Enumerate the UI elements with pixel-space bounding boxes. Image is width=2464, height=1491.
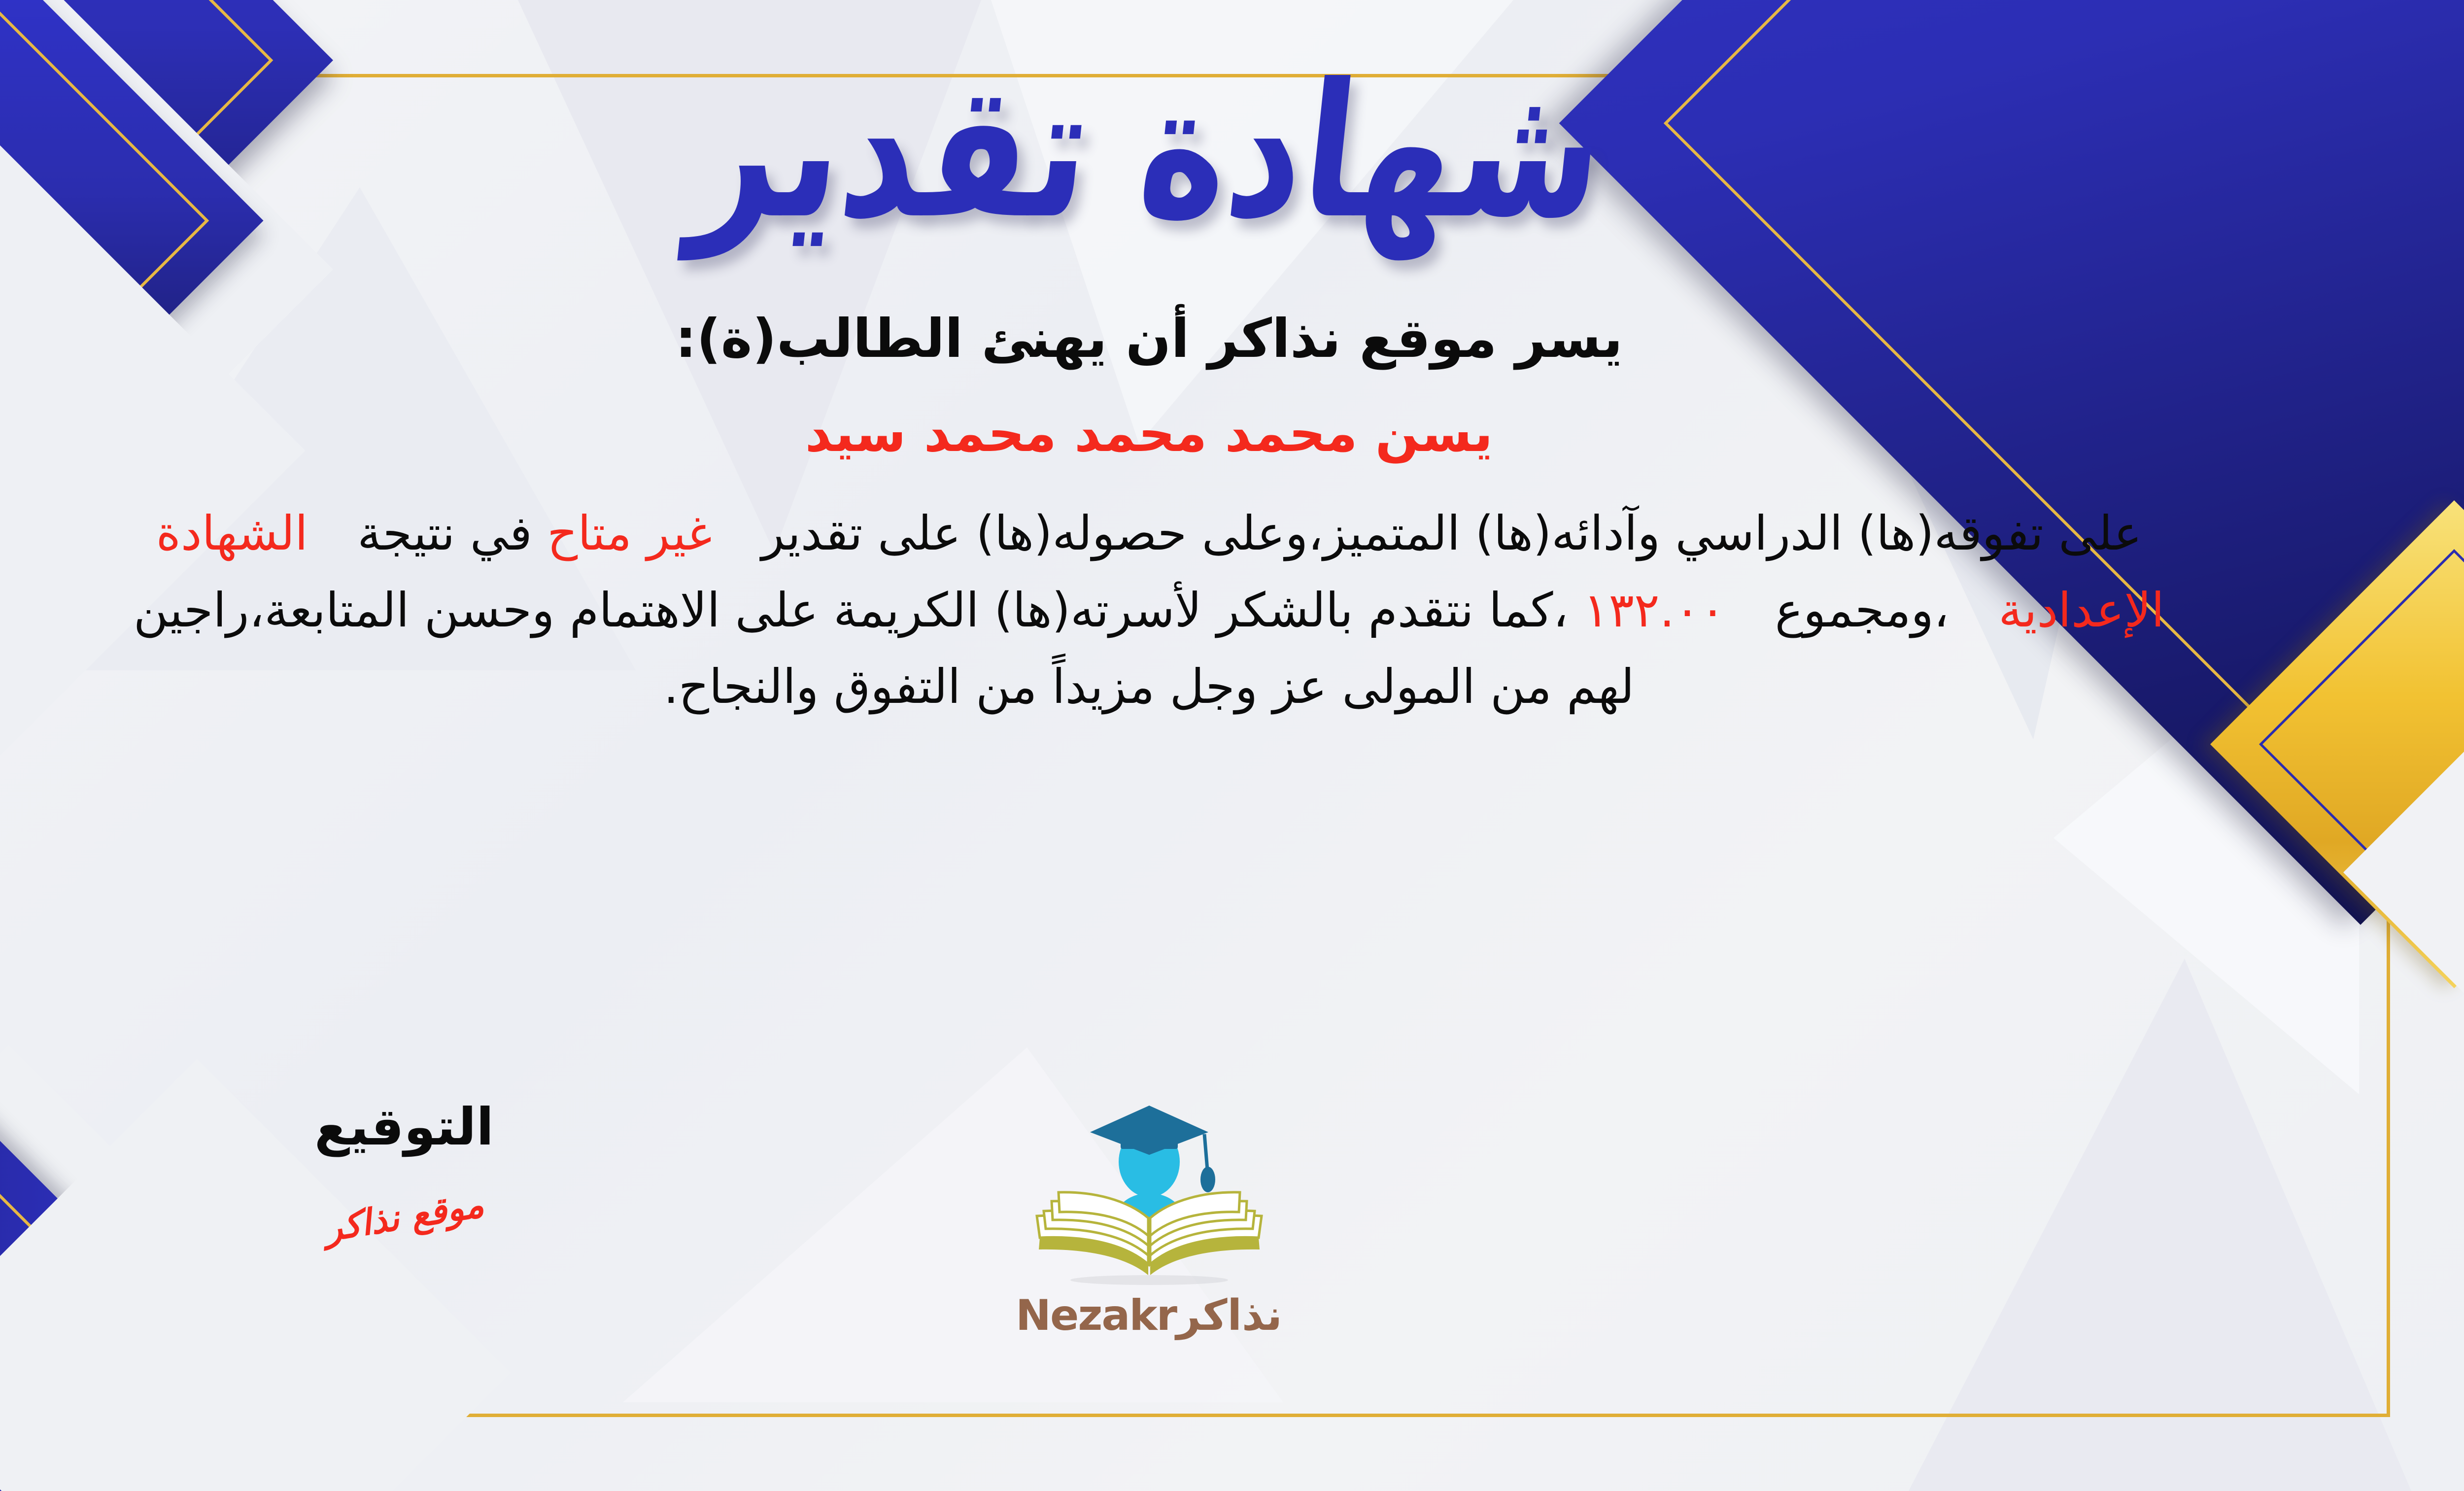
certificate-footer: التوقيع موقع نذاكر <box>0 1097 2464 1402</box>
logo-wordmark: Nezakrنذاكر <box>947 1291 1351 1340</box>
greeting-line: يسر موقع نذاكر أن يهنئ الطالب(ة): <box>40 303 2258 375</box>
signature-block: التوقيع موقع نذاكر <box>232 1097 577 1237</box>
citation-segment-4: ،كما نتقدم بالشكر لأسرته(ها) الكريمة على… <box>134 583 1635 715</box>
grade-value: غير متاح <box>547 506 712 561</box>
citation-paragraph: على تفوقه(ها) الدراسي وآدائه(ها) المتميز… <box>40 495 2258 726</box>
student-name: يسن محمد محمد محمد سيد <box>40 399 2258 468</box>
certificate-title: شهادة تقدير <box>685 55 1613 249</box>
citation-segment-1: على تفوقه(ها) الدراسي وآدائه(ها) المتميز… <box>761 506 2142 561</box>
citation-segment-3: ،ومجموع <box>1775 583 1949 638</box>
graduate-book-logo-icon <box>1011 1102 1287 1289</box>
certificate-body: يسر موقع نذاكر أن يهنئ الطالب(ة): يسن مح… <box>40 303 2258 726</box>
signature-label: التوقيع <box>232 1097 577 1157</box>
brand-logo: Nezakrنذاكر <box>947 1102 1351 1340</box>
citation-segment-2: في نتيجة <box>357 506 532 561</box>
certificate-page: شهادة تقدير يسر موقع نذاكر أن يهنئ الطال… <box>0 0 2464 1491</box>
total-score-value: ١٣٢.٠٠ <box>1583 583 1725 638</box>
signature-handwriting: موقع نذاكر <box>322 1183 487 1249</box>
